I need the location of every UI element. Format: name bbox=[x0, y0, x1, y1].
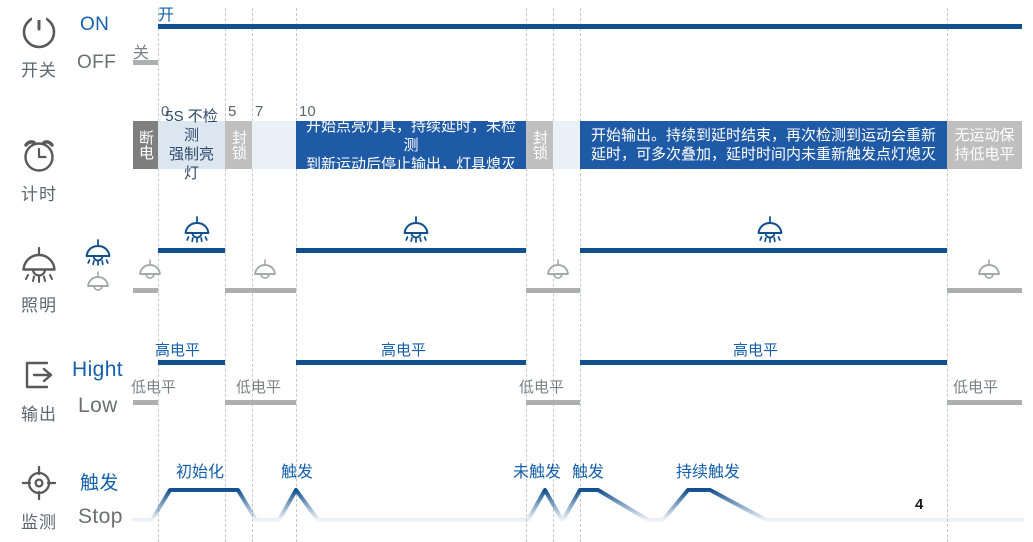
row-caption-timing: 计时 bbox=[0, 180, 78, 205]
lamp-off-icon bbox=[137, 258, 163, 288]
output-high-caption: 高电平 bbox=[381, 339, 426, 360]
output-low-caption: 低电平 bbox=[953, 376, 998, 397]
timing-segment-text: 封锁 bbox=[224, 130, 253, 160]
output-low-caption: 低电平 bbox=[236, 376, 281, 397]
detect-waveform bbox=[0, 470, 1033, 542]
segment-high bbox=[158, 360, 225, 365]
alarm-clock-icon bbox=[0, 132, 78, 178]
lamp-off-icon bbox=[545, 258, 571, 288]
row-icon-switch: 开关 bbox=[0, 8, 78, 81]
timing-segment-delay-phase-2: 开始输出。持续到延时结束，再次检测到运动会重新延时，可多次叠加，延时时间内未重新… bbox=[580, 121, 947, 169]
timing-segment-no-motion-low: 无运动保持低电平 bbox=[947, 121, 1022, 169]
lamp-on-icon bbox=[755, 215, 785, 251]
lamp-off-icon bbox=[85, 270, 111, 300]
segment-low bbox=[947, 288, 1022, 293]
power-icon bbox=[0, 8, 78, 54]
timing-segment-lockout-1: 封锁 bbox=[225, 121, 252, 169]
lamp-off-icon bbox=[252, 258, 278, 288]
segment-low bbox=[133, 60, 158, 65]
segment-high bbox=[296, 360, 526, 365]
timing-segment-text: 封锁 bbox=[525, 130, 554, 160]
timing-segment-text: 开始输出。持续到延时结束，再次检测到运动会重新延时，可多次叠加，延时时间内未重新… bbox=[585, 126, 942, 164]
timing-segment-idle-gap-1 bbox=[252, 121, 296, 169]
lamp-icon bbox=[0, 243, 78, 289]
timing-segment-text: 断电 bbox=[131, 130, 160, 160]
segment-high bbox=[158, 24, 1022, 29]
axis-tick: 5 bbox=[228, 103, 236, 120]
segment-low bbox=[133, 400, 158, 405]
lamp-on-icon bbox=[401, 215, 431, 251]
page-number: 4 bbox=[915, 496, 923, 513]
output-low-caption: 低电平 bbox=[519, 376, 564, 397]
timing-diagram: 开关 计时 照明 bbox=[0, 0, 1033, 542]
gridline bbox=[947, 8, 948, 542]
segment-low bbox=[225, 288, 296, 293]
lamp-off-icon bbox=[976, 258, 1002, 288]
timing-segment-force-on-5s: 5S 不检测强制亮灯 bbox=[158, 121, 225, 169]
timing-segment-delay-phase-1: 开始点亮灯具，持续延时，未检测到新运动后停止输出，灯具熄灭 bbox=[296, 121, 526, 169]
row-icon-timing: 计时 bbox=[0, 132, 78, 205]
timing-segment-power-off: 断电 bbox=[133, 121, 158, 169]
timing-segment-idle-gap-2 bbox=[553, 121, 580, 169]
switch-off-label: OFF bbox=[77, 52, 116, 74]
row-icon-lighting: 照明 bbox=[0, 243, 78, 316]
output-low-label: Low bbox=[78, 394, 118, 418]
lamp-on-icon bbox=[83, 238, 113, 274]
output-low-caption: 低电平 bbox=[131, 376, 176, 397]
segment-low bbox=[526, 288, 580, 293]
row-caption-lighting: 照明 bbox=[0, 291, 78, 316]
timing-segment-text: 开始点亮灯具，持续延时，未检测到新运动后停止输出，灯具熄灭 bbox=[296, 117, 526, 174]
segment-low bbox=[526, 400, 580, 405]
row-caption-switch: 开关 bbox=[0, 56, 78, 81]
detect-pulse-path bbox=[133, 490, 1022, 520]
output-high-label: Hight bbox=[72, 358, 123, 382]
timing-segment-text: 无运动保持低电平 bbox=[948, 126, 1020, 164]
row-icon-output: 输出 bbox=[0, 352, 78, 425]
axis-tick: 7 bbox=[255, 103, 263, 120]
segment-high bbox=[580, 360, 947, 365]
row-caption-output: 输出 bbox=[0, 400, 78, 425]
segment-low bbox=[225, 400, 296, 405]
segment-low bbox=[133, 288, 158, 293]
lamp-on-icon bbox=[182, 215, 212, 251]
timing-segment-lockout-2: 封锁 bbox=[526, 121, 553, 169]
export-icon bbox=[0, 352, 78, 398]
output-high-caption: 高电平 bbox=[155, 339, 200, 360]
segment-low bbox=[947, 400, 1022, 405]
switch-on-marker: 开 bbox=[158, 1, 174, 25]
timing-segment-text: 5S 不检测强制亮灯 bbox=[158, 107, 225, 183]
gridline bbox=[225, 8, 226, 542]
switch-on-label: ON bbox=[80, 14, 109, 36]
output-high-caption: 高电平 bbox=[733, 339, 778, 360]
